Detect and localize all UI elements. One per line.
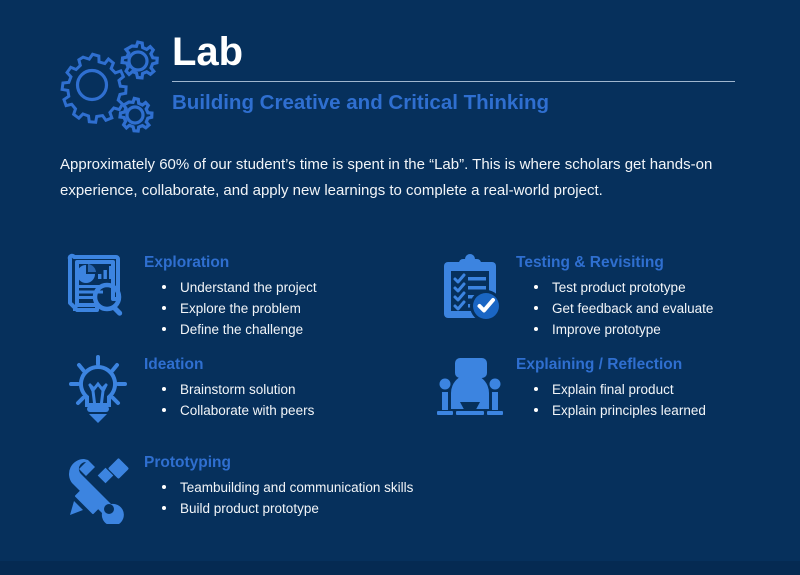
list-item: Build product prototype — [144, 498, 422, 519]
bullet-list: Understand the project Explore the probl… — [144, 277, 422, 340]
bullet-list: Test product prototype Get feedback and … — [516, 277, 794, 340]
section-prototyping: Prototyping Teambuilding and communicati… — [52, 446, 422, 526]
bottom-band — [0, 561, 800, 575]
list-item: Understand the project — [144, 277, 422, 298]
bullet-dot — [162, 327, 166, 331]
list-item-text: Understand the project — [180, 280, 317, 295]
list-item-text: Get feedback and evaluate — [552, 301, 713, 316]
section-body: Prototyping Teambuilding and communicati… — [144, 446, 422, 519]
section-title: Ideation — [144, 355, 422, 375]
title-divider — [172, 81, 735, 82]
wrench-screwdriver-icon — [52, 446, 144, 526]
list-item: Explain final product — [516, 379, 794, 400]
bullet-dot — [534, 387, 538, 391]
list-item-text: Build product prototype — [180, 501, 319, 516]
list-item-text: Teambuilding and communication skills — [180, 480, 413, 495]
list-item: Test product prototype — [516, 277, 794, 298]
section-ideation: Ideation Brainstorm solution Collaborate… — [52, 348, 422, 428]
header-text-block: Lab Building Creative and Critical Think… — [172, 28, 738, 117]
list-item: Explain principles learned — [516, 400, 794, 421]
bullet-dot — [162, 387, 166, 391]
list-item-text: Improve prototype — [552, 322, 661, 337]
header: Lab Building Creative and Critical Think… — [0, 28, 800, 143]
section-title: Testing & Revisiting — [516, 253, 794, 273]
list-item: Teambuilding and communication skills — [144, 477, 422, 498]
bullet-dot — [534, 327, 538, 331]
bullet-dot — [534, 285, 538, 289]
intro-paragraph: Approximately 60% of our student’s time … — [60, 152, 740, 204]
bullet-dot — [534, 408, 538, 412]
section-exploration: Exploration Understand the project Explo… — [52, 246, 422, 340]
list-item: Collaborate with peers — [144, 400, 422, 421]
section-body: Explaining / Reflection Explain final pr… — [516, 348, 794, 421]
list-item-text: Brainstorm solution — [180, 382, 296, 397]
list-item: Improve prototype — [516, 319, 794, 340]
list-item: Get feedback and evaluate — [516, 298, 794, 319]
section-explaining-reflection: Explaining / Reflection Explain final pr… — [424, 348, 794, 428]
section-body: Exploration Understand the project Explo… — [144, 246, 422, 340]
bullet-dot — [162, 506, 166, 510]
slide-root: Lab Building Creative and Critical Think… — [0, 0, 800, 575]
list-item-text: Collaborate with peers — [180, 403, 314, 418]
section-body: Ideation Brainstorm solution Collaborate… — [144, 348, 422, 421]
section-body: Testing & Revisiting Test product protot… — [516, 246, 794, 340]
list-item-text: Explore the problem — [180, 301, 301, 316]
presentation-people-icon — [424, 348, 516, 428]
bullet-dot — [162, 306, 166, 310]
list-item-text: Explain principles learned — [552, 403, 706, 418]
list-item-text: Explain final product — [552, 382, 674, 397]
page-title: Lab — [172, 28, 738, 76]
bullet-list: Explain final product Explain principles… — [516, 379, 794, 421]
list-item-text: Test product prototype — [552, 280, 686, 295]
document-chart-magnifier-icon — [52, 246, 144, 326]
section-testing-revisiting: Testing & Revisiting Test product protot… — [424, 246, 794, 340]
bullet-dot — [162, 285, 166, 289]
section-title: Exploration — [144, 253, 422, 273]
bullet-dot — [534, 306, 538, 310]
list-item: Define the challenge — [144, 319, 422, 340]
clipboard-check-icon — [424, 246, 516, 326]
section-title: Explaining / Reflection — [516, 355, 794, 375]
bullet-dot — [162, 408, 166, 412]
section-title: Prototyping — [144, 453, 422, 473]
bullet-list: Teambuilding and communication skills Bu… — [144, 477, 422, 519]
list-item-text: Define the challenge — [180, 322, 303, 337]
bullet-dot — [162, 485, 166, 489]
lightbulb-icon — [52, 348, 144, 428]
bullet-list: Brainstorm solution Collaborate with pee… — [144, 379, 422, 421]
gears-icon — [48, 32, 162, 142]
page-subtitle: Building Creative and Critical Thinking — [172, 89, 738, 117]
list-item: Explore the problem — [144, 298, 422, 319]
list-item: Brainstorm solution — [144, 379, 422, 400]
